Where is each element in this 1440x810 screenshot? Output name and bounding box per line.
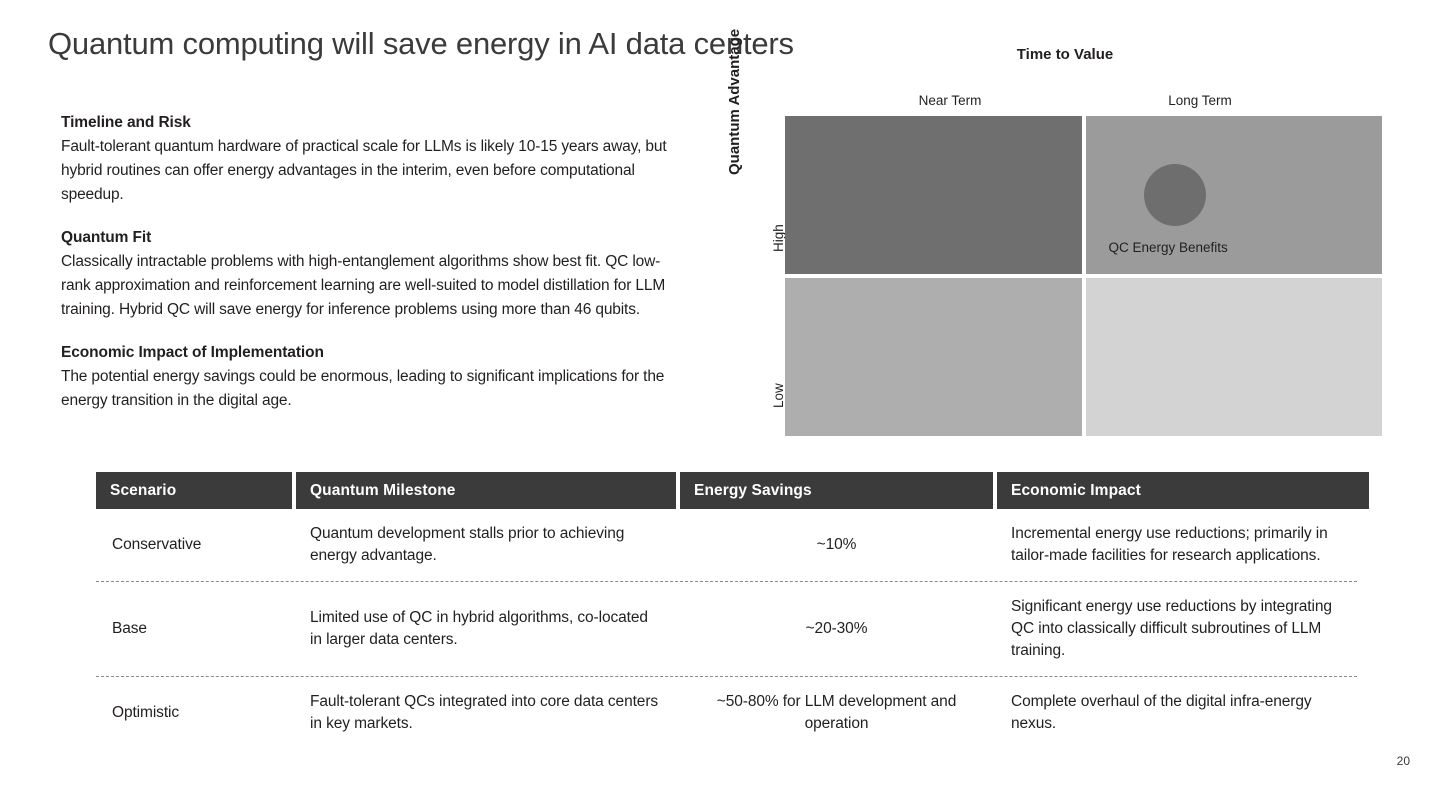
cell-savings: ~20-30%	[680, 618, 993, 640]
cell-milestone: Limited use of QC in hybrid algorithms, …	[296, 607, 676, 651]
matrix-y-axis-title: Quantum Advantage	[726, 29, 743, 175]
matrix-x-label-long-term: Long Term	[1090, 93, 1310, 108]
matrix-grid: QC Energy Benefits	[785, 116, 1382, 436]
cell-milestone: Quantum development stalls prior to achi…	[296, 523, 676, 567]
narrative-block-timeline: Timeline and Risk Fault-tolerant quantum…	[61, 114, 686, 207]
table-column-header-energy-savings: Energy Savings	[680, 472, 993, 509]
narrative-body: Classically intractable problems with hi…	[61, 250, 686, 322]
narrative-block-quantum-fit: Quantum Fit Classically intractable prob…	[61, 229, 686, 322]
page-title: Quantum computing will save energy in AI…	[48, 26, 794, 62]
matrix-y-label-low: Low	[771, 383, 786, 408]
quadrant-matrix: Time to Value Near Term Long Term Quantu…	[735, 40, 1385, 440]
table-row: Base Limited use of QC in hybrid algorit…	[96, 582, 1357, 677]
matrix-y-label-high: High	[771, 224, 786, 252]
matrix-cell-high-long-term[interactable]: QC Energy Benefits	[1086, 116, 1383, 274]
cell-scenario: Optimistic	[96, 702, 292, 724]
narrative-heading: Economic Impact of Implementation	[61, 344, 686, 362]
bubble-qc-energy-benefits[interactable]	[1144, 164, 1206, 226]
cell-savings: ~50-80% for LLM development and operatio…	[680, 691, 993, 735]
table-row: Conservative Quantum development stalls …	[96, 509, 1357, 582]
table-header-row: Scenario Quantum Milestone Energy Saving…	[96, 472, 1357, 509]
table-column-header-scenario: Scenario	[96, 472, 292, 509]
narrative-body: Fault-tolerant quantum hardware of pract…	[61, 135, 686, 207]
narrative-heading: Timeline and Risk	[61, 114, 686, 132]
cell-savings: ~10%	[680, 534, 993, 556]
cell-milestone: Fault-tolerant QCs integrated into core …	[296, 691, 676, 735]
cell-scenario: Base	[96, 618, 292, 640]
table-column-header-economic-impact: Economic Impact	[997, 472, 1369, 509]
bubble-label: QC Energy Benefits	[1109, 240, 1228, 255]
narrative-body: The potential energy savings could be en…	[61, 365, 686, 413]
matrix-cell-low-near-term[interactable]	[785, 278, 1082, 436]
slide-canvas: Quantum computing will save energy in AI…	[0, 0, 1440, 810]
cell-impact: Complete overhaul of the digital infra-e…	[997, 691, 1369, 735]
table-row: Optimistic Fault-tolerant QCs integrated…	[96, 677, 1357, 749]
cell-impact: Incremental energy use reductions; prima…	[997, 523, 1369, 567]
matrix-cell-low-long-term[interactable]	[1086, 278, 1383, 436]
matrix-x-label-near-term: Near Term	[850, 93, 1050, 108]
slide-footer: Wood Mackenzie COLUMBIA | SIPA School of…	[0, 740, 1440, 810]
cell-scenario: Conservative	[96, 534, 292, 556]
matrix-cell-high-near-term[interactable]	[785, 116, 1082, 274]
page-number: 20	[1397, 754, 1410, 768]
narrative-heading: Quantum Fit	[61, 229, 686, 247]
table-column-header-quantum-milestone: Quantum Milestone	[296, 472, 676, 509]
matrix-title: Time to Value	[955, 46, 1175, 63]
scenario-table: Scenario Quantum Milestone Energy Saving…	[96, 472, 1357, 749]
narrative-column: Timeline and Risk Fault-tolerant quantum…	[61, 114, 686, 413]
cell-impact: Significant energy use reductions by int…	[997, 596, 1369, 662]
narrative-block-economic-impact: Economic Impact of Implementation The po…	[61, 344, 686, 413]
